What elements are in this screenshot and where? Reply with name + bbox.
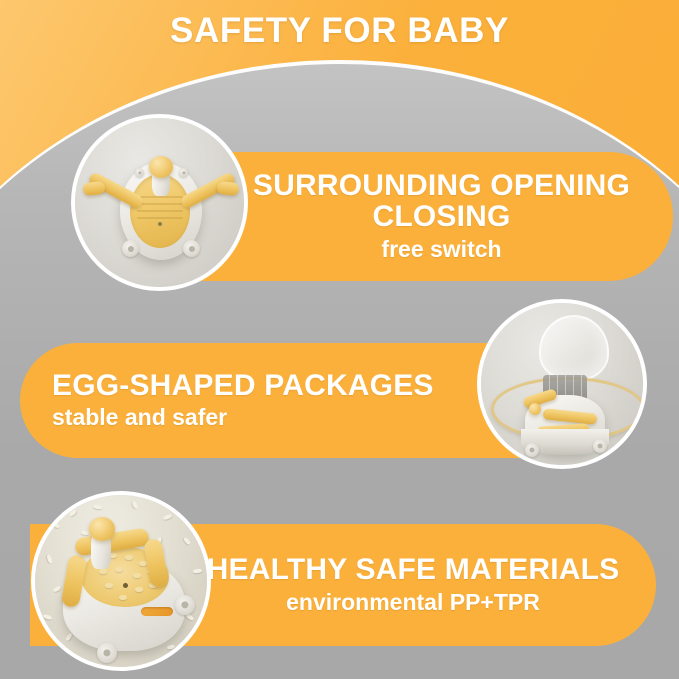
product-feature-poster: SAFETY FOR BABY SURROUNDING OPENING CLOS…: [0, 0, 679, 679]
scattered-grain: [43, 614, 53, 621]
pad-groove: [137, 196, 183, 198]
product-mount-tab: [135, 168, 144, 177]
feature-photo-1: [71, 114, 248, 291]
status-indicator-slot: [141, 607, 173, 616]
product-mount-tab: [179, 168, 188, 177]
scattered-grain: [93, 504, 103, 510]
bowl-center-hole: [123, 583, 128, 588]
product-left-arm-tip: [82, 181, 105, 196]
food-grain: [133, 573, 141, 578]
page-title: SAFETY FOR BABY: [0, 11, 679, 50]
scattered-grain: [131, 501, 138, 510]
egg-shaped-lid: [539, 315, 609, 381]
product-control-knob: [529, 403, 541, 415]
scattered-grain: [183, 537, 191, 546]
feature-photo-2: [477, 299, 647, 469]
pad-groove: [137, 203, 183, 205]
scattered-grain: [65, 633, 73, 642]
product-foot: [122, 240, 139, 257]
food-grain: [119, 595, 127, 600]
product-knob: [149, 156, 173, 178]
scattered-grain: [193, 568, 202, 573]
feature-photo-3: [31, 491, 211, 671]
food-grain: [105, 583, 113, 588]
product-foot: [175, 595, 195, 615]
food-grain: [125, 555, 133, 560]
scattered-grain: [167, 644, 176, 650]
feature-heading-1: SURROUNDING OPENING CLOSING: [228, 170, 655, 234]
feature-subheading-3: environmental PP+TPR: [188, 589, 638, 616]
food-grain: [135, 587, 143, 592]
photo-3-scene: [35, 495, 207, 667]
product-right-arm-tip: [216, 181, 239, 196]
scattered-grain: [163, 513, 173, 520]
feature-subheading-1: free switch: [228, 236, 655, 263]
product-foot: [525, 443, 539, 457]
feature-heading-3: HEALTHY SAFE MATERIALS: [188, 554, 638, 586]
food-grain: [115, 567, 123, 572]
scattered-grain: [69, 509, 78, 517]
product-foot: [97, 643, 117, 663]
scattered-grain: [46, 554, 53, 564]
product-knob: [89, 517, 115, 541]
pad-groove: [137, 217, 183, 219]
scattered-grain: [53, 585, 62, 593]
scattered-grain: [81, 530, 89, 535]
pad-center-hole: [158, 222, 162, 226]
scattered-grain: [51, 521, 61, 529]
photo-1-scene: [75, 118, 244, 287]
photo-2-scene: [481, 303, 643, 465]
pad-groove: [137, 210, 183, 212]
product-foot: [593, 439, 607, 453]
food-grain: [99, 569, 107, 574]
product-foot: [183, 240, 200, 257]
